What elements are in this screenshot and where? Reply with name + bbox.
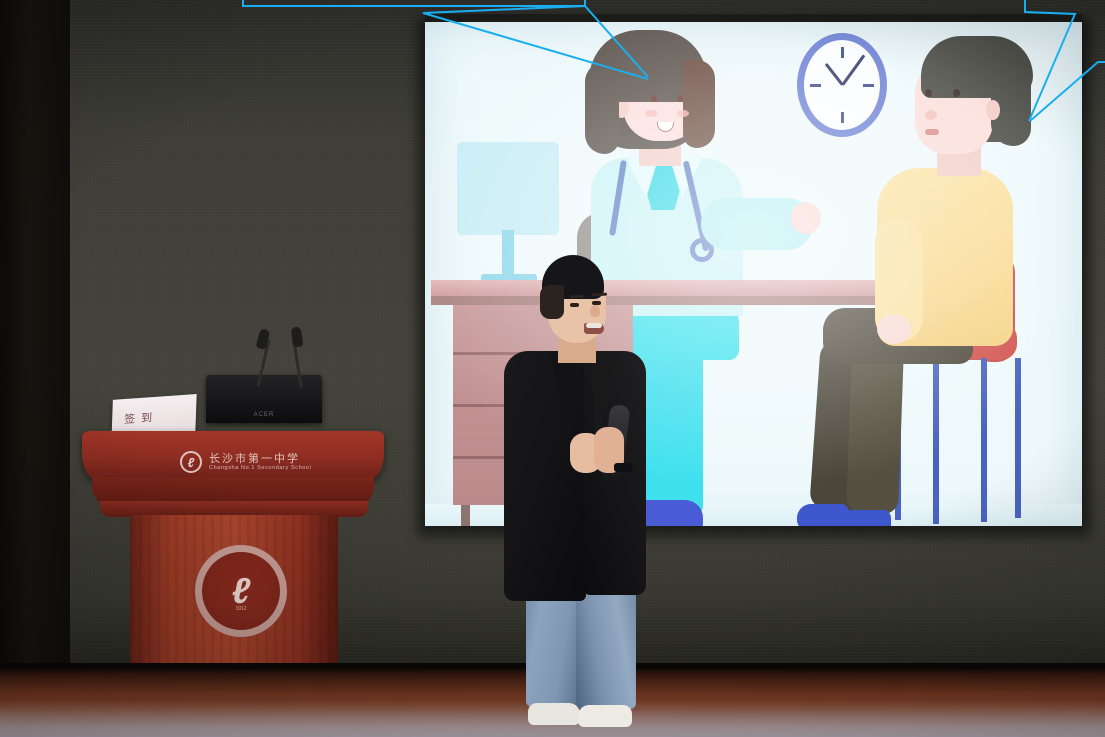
- school-emblem-year: 1912: [235, 606, 246, 612]
- laptop[interactable]: ACER: [206, 375, 322, 423]
- doctor-eye-left: [651, 95, 657, 102]
- doctor-hair-side: [683, 60, 715, 148]
- school-mark-icon: ℓ: [180, 451, 202, 473]
- school-emblem-glyph: ℓ: [232, 573, 251, 609]
- school-name-en: Changsha No.1 Secondary School: [209, 465, 311, 471]
- screenshot-root: ACER 签到 ℓ 长沙市第一中学 Changsha No.1 Secondar…: [0, 0, 1105, 737]
- speaker-nose: [590, 305, 600, 317]
- patient-chair-leg: [1015, 358, 1021, 518]
- patient-shin-right: [846, 347, 904, 515]
- lectern-branding: ℓ 长沙市第一中学 Changsha No.1 Secondary School: [180, 451, 311, 473]
- doctor-hand: [791, 202, 821, 234]
- wall-clock-icon: [797, 33, 887, 137]
- monitor-screen-icon: [457, 142, 559, 235]
- lectern-top: ℓ 长沙市第一中学 Changsha No.1 Secondary School: [82, 431, 384, 479]
- wristwatch: [614, 463, 632, 472]
- patient-eye-right: [953, 89, 960, 97]
- speaker-shoe-right: [578, 705, 632, 727]
- patient-chair-leg: [981, 358, 987, 522]
- patient-hand: [877, 314, 911, 344]
- speaker-shoe-left: [528, 703, 580, 725]
- doctor-cheek-left: [645, 110, 657, 117]
- speaker-hair-fade: [540, 285, 564, 319]
- speaker: [498, 255, 658, 737]
- patient-eye-left: [925, 89, 932, 97]
- patient-nose: [925, 110, 937, 120]
- patient-shoe-right: [839, 510, 891, 526]
- laptop-logo: ACER: [254, 412, 275, 418]
- speaker-teeth: [586, 323, 602, 328]
- school-name-block: 长沙市第一中学 Changsha No.1 Secondary School: [209, 453, 311, 471]
- patient-ear: [986, 100, 1000, 120]
- speaker-eye-left: [570, 303, 579, 307]
- patient-chair-leg: [933, 358, 939, 524]
- sign-in-paper-text: 签到: [124, 409, 158, 427]
- doctor-eye-right: [677, 95, 683, 102]
- school-name-cn: 长沙市第一中学: [209, 453, 311, 465]
- patient-mouth: [925, 129, 939, 135]
- doctor-hair-side-left: [585, 62, 619, 154]
- desk-leg-left: [461, 505, 470, 526]
- doctor-cheek-right: [677, 110, 689, 117]
- left-dark-wall-edge: [0, 0, 70, 737]
- school-emblem: ℓ 1912: [195, 545, 287, 637]
